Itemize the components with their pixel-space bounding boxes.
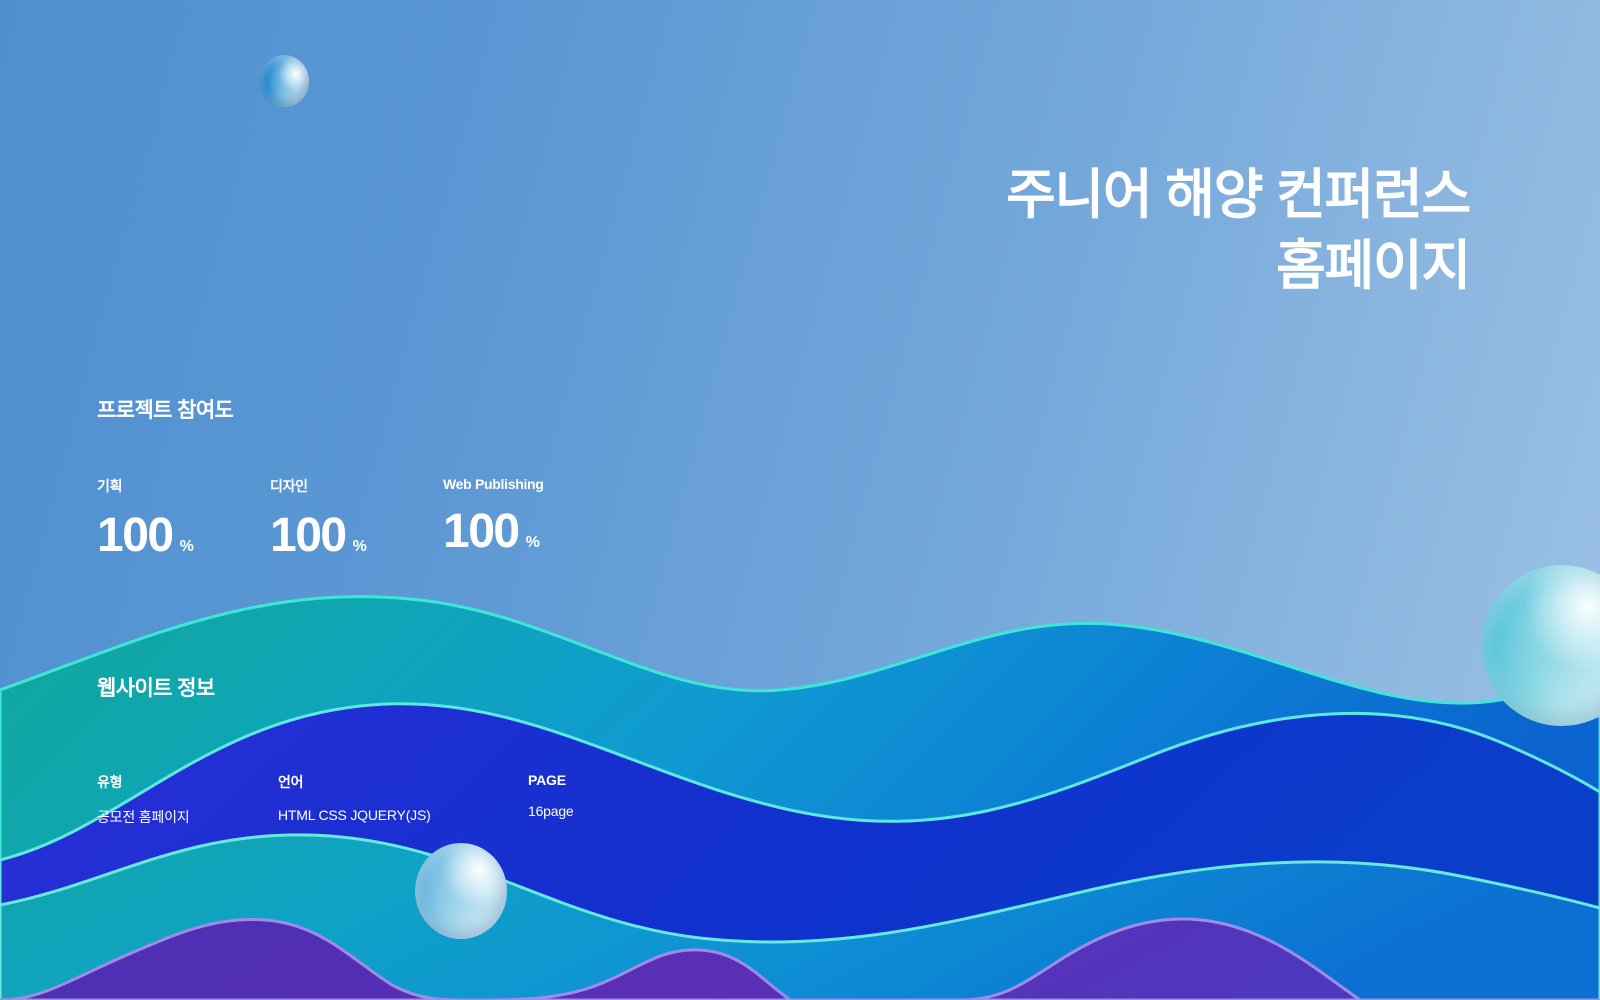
page-title-line-2: 홈페이지 — [1006, 231, 1470, 302]
bubble-sphere-right-icon — [1481, 565, 1600, 726]
participation-unit: % — [353, 538, 367, 556]
website-info-value: 공모전 홈페이지 — [97, 807, 278, 827]
website-info-label: 언어 — [278, 772, 528, 792]
participation-value-group: 100 % — [270, 512, 443, 560]
participation-value-group: 100 % — [97, 512, 270, 560]
participation-stat-planning: 기획 100 % — [97, 476, 270, 560]
website-info-section: 웹사이트 정보 유형 공모전 홈페이지 언어 HTML CSS JQUERY(J… — [97, 672, 574, 827]
participation-label: Web Publishing — [443, 476, 544, 492]
project-participation-section: 프로젝트 참여도 기획 100 % 디자인 100 % Web Publishi… — [97, 394, 544, 560]
wave-layer-cyan — [0, 835, 1600, 1000]
participation-stat-design: 디자인 100 % — [270, 476, 443, 560]
website-info-heading: 웹사이트 정보 — [97, 672, 574, 702]
website-info-label: PAGE — [528, 772, 574, 788]
website-info-type: 유형 공모전 홈페이지 — [97, 772, 278, 827]
participation-unit: % — [526, 534, 540, 552]
portfolio-slide: 주니어 해양 컨퍼런스 홈페이지 프로젝트 참여도 기획 100 % 디자인 1… — [0, 0, 1600, 1000]
participation-label: 기획 — [97, 476, 270, 496]
website-info-label: 유형 — [97, 772, 278, 792]
website-info-value: 16page — [528, 803, 574, 819]
participation-value-group: 100 % — [443, 508, 544, 556]
participation-stat-web-publishing: Web Publishing 100 % — [443, 476, 544, 560]
website-info-page-count: PAGE 16page — [528, 772, 574, 827]
participation-label: 디자인 — [270, 476, 443, 496]
website-info-row: 유형 공모전 홈페이지 언어 HTML CSS JQUERY(JS) PAGE … — [97, 772, 574, 827]
participation-heading: 프로젝트 참여도 — [97, 394, 544, 424]
participation-value: 100 — [270, 512, 346, 560]
page-title: 주니어 해양 컨퍼런스 홈페이지 — [1006, 160, 1470, 303]
bubble-sphere-bottom-icon — [415, 843, 507, 939]
page-title-line-1: 주니어 해양 컨퍼런스 — [1006, 160, 1470, 231]
bubble-sphere-top-left-icon — [259, 55, 309, 107]
participation-unit: % — [180, 538, 194, 556]
participation-value: 100 — [97, 512, 173, 560]
wave-layer-purple — [0, 919, 1600, 1000]
website-info-value: HTML CSS JQUERY(JS) — [278, 807, 528, 823]
participation-value: 100 — [443, 508, 519, 556]
participation-stat-row: 기획 100 % 디자인 100 % Web Publishing 100 % — [97, 476, 544, 560]
website-info-language: 언어 HTML CSS JQUERY(JS) — [278, 772, 528, 827]
